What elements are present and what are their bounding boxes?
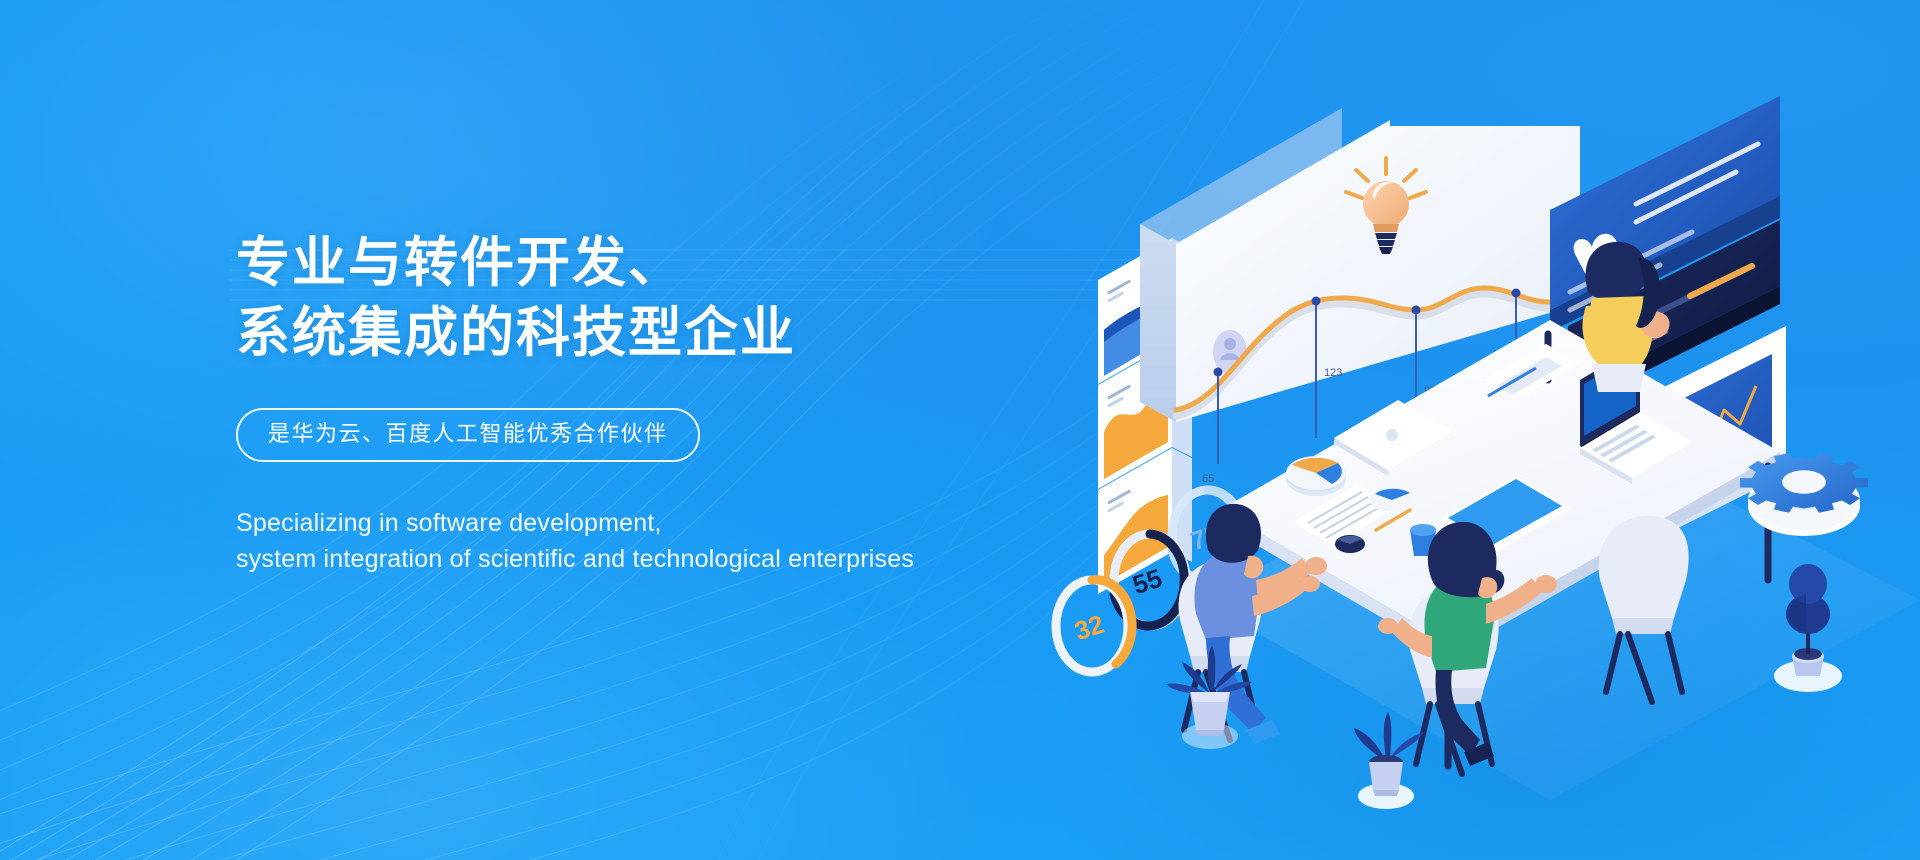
hero-illustration: 65 123 97 81 — [1080, 80, 1920, 780]
page-title: 专业与转件开发、 系统集成的科技型企业 — [236, 228, 1116, 368]
hero-banner: 专业与转件开发、 系统集成的科技型企业 是华为云、百度人工智能优秀合作伙伴 Sp… — [0, 0, 1920, 860]
pie-chart-large — [1286, 456, 1346, 496]
subtitle-line-2: system integration of scientific and tec… — [236, 542, 1116, 578]
hero-subtitle: Specializing in software development, sy… — [236, 506, 1116, 577]
headline-line-2: 系统集成的科技型企业 — [236, 298, 1116, 368]
gear-icon — [1740, 453, 1868, 536]
headline-line-1: 专业与转件开发、 — [236, 233, 684, 293]
potted-plant-2 — [1354, 712, 1424, 809]
chart-label-0: 65 — [1202, 473, 1214, 485]
hero-copy: 专业与转件开发、 系统集成的科技型企业 是华为云、百度人工智能优秀合作伙伴 Sp… — [236, 228, 1116, 577]
chair-far-right — [1599, 516, 1689, 702]
partner-badge[interactable]: 是华为云、百度人工智能优秀合作伙伴 — [236, 408, 700, 462]
subtitle-line-1: Specializing in software development, — [236, 506, 1116, 542]
pie-chart-mini — [1335, 535, 1365, 553]
chart-label-1: 123 — [1324, 367, 1342, 379]
pie-chart-small — [1370, 488, 1414, 512]
